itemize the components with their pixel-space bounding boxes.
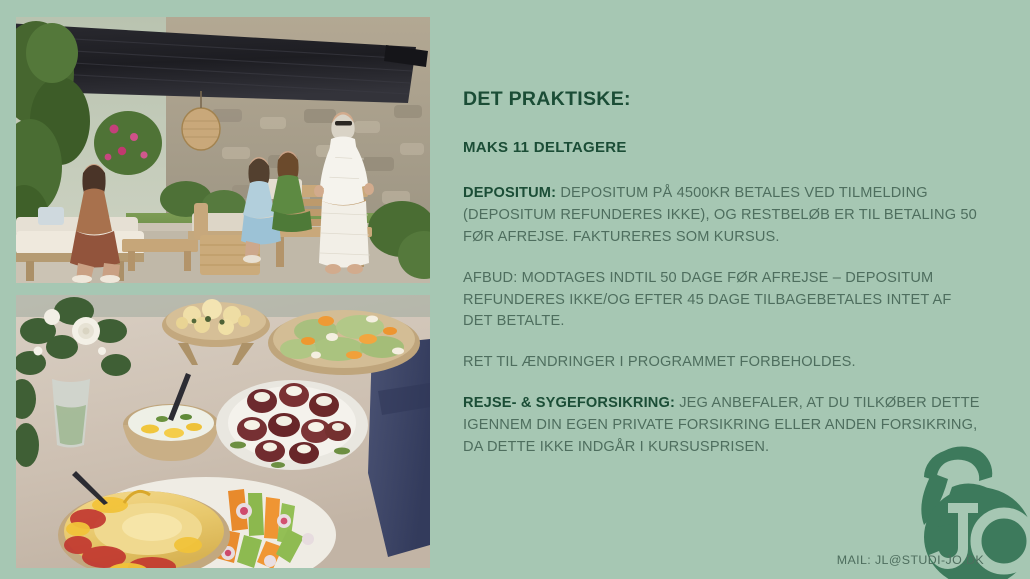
participants-subheading: MAKS 11 DELTAGERE: [463, 139, 983, 156]
slide-root: DET PRAKTISKE: MAKS 11 DELTAGERE DEPOSIT…: [0, 0, 1030, 579]
buffet-photo-illustration: [16, 295, 430, 568]
deposit-paragraph: DEPOSITUM: DEPOSITUM PÅ 4500KR BETALES V…: [463, 183, 983, 249]
terrace-group-photo: [16, 17, 430, 283]
media-column: [16, 17, 430, 568]
contact-mail-label: MAIL: JL@STUDI-JO.DK: [837, 553, 984, 567]
program-changes-text: RET TIL ÆNDRINGER I PROGRAMMET FORBEHOLD…: [463, 354, 856, 370]
buffet-table-photo: [16, 295, 430, 568]
terrace-photo-illustration: [16, 17, 430, 283]
program-changes-paragraph: RET TIL ÆNDRINGER I PROGRAMMET FORBEHOLD…: [463, 352, 983, 374]
cancellation-text: AFBUD: MODTAGES INDTIL 50 DAGE FØR AFREJ…: [463, 270, 952, 330]
deposit-lead-in: DEPOSITUM:: [463, 185, 556, 201]
page-title: DET PRAKTISKE:: [463, 88, 983, 111]
cancellation-paragraph: AFBUD: MODTAGES INDTIL 50 DAGE FØR AFREJ…: [463, 268, 983, 334]
insurance-lead-in: REJSE- & SYGEFORSIKRING:: [463, 395, 675, 411]
content-column: DET PRAKTISKE: MAKS 11 DELTAGERE DEPOSIT…: [463, 88, 983, 459]
